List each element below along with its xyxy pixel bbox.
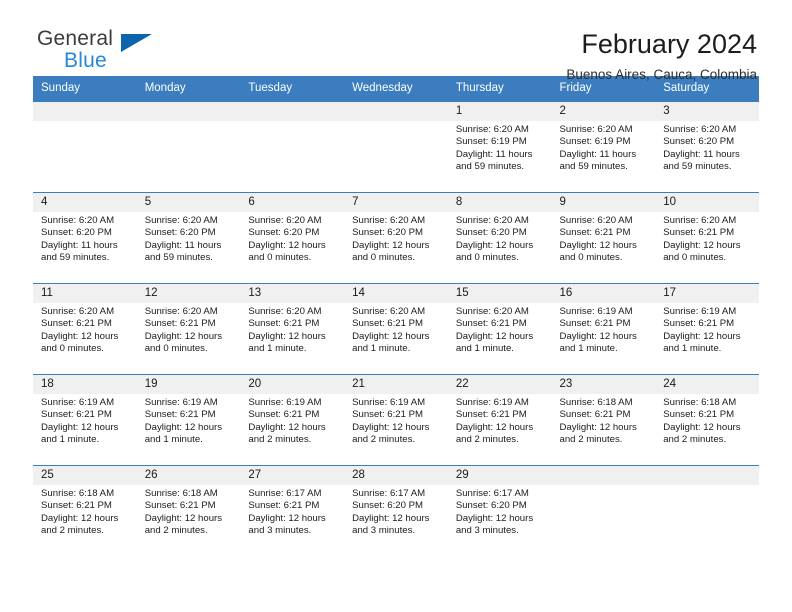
day-number: 17 (655, 284, 759, 303)
daylight-duration-line1: Daylight: 12 hours (663, 240, 753, 252)
daylight-duration-line1: Daylight: 12 hours (456, 422, 546, 434)
daylight-duration-line1: Daylight: 12 hours (352, 240, 442, 252)
daylight-duration-line2: and 0 minutes. (145, 343, 235, 355)
calendar-day-cell[interactable]: 22Sunrise: 6:19 AMSunset: 6:21 PMDayligh… (448, 375, 552, 466)
calendar-day-cell[interactable]: 27Sunrise: 6:17 AMSunset: 6:21 PMDayligh… (240, 466, 344, 557)
daylight-duration-line1: Daylight: 12 hours (663, 422, 753, 434)
day-cell-inner (33, 102, 137, 192)
day-details: Sunrise: 6:19 AMSunset: 6:21 PMDaylight:… (33, 394, 137, 447)
daylight-duration-line1: Daylight: 12 hours (456, 513, 546, 525)
calendar-week-row: 11Sunrise: 6:20 AMSunset: 6:21 PMDayligh… (33, 284, 759, 375)
page-header: General Blue February 2024 Buenos Aires,… (33, 0, 759, 72)
daylight-duration-line1: Daylight: 12 hours (248, 240, 338, 252)
calendar-day-cell-empty (137, 102, 241, 193)
daylight-duration-line2: and 0 minutes. (560, 252, 650, 264)
sunset-time: Sunset: 6:21 PM (456, 318, 546, 330)
sunrise-time: Sunrise: 6:19 AM (560, 306, 650, 318)
daylight-duration-line1: Daylight: 11 hours (456, 149, 546, 161)
day-details: Sunrise: 6:17 AMSunset: 6:21 PMDaylight:… (240, 485, 344, 538)
logo-text-blue: Blue (37, 50, 203, 72)
day-details: Sunrise: 6:19 AMSunset: 6:21 PMDaylight:… (448, 394, 552, 447)
calendar-day-cell[interactable]: 16Sunrise: 6:19 AMSunset: 6:21 PMDayligh… (552, 284, 656, 375)
sunset-time: Sunset: 6:20 PM (663, 136, 753, 148)
day-cell-inner: 9Sunrise: 6:20 AMSunset: 6:21 PMDaylight… (552, 193, 656, 283)
daylight-duration-line2: and 0 minutes. (248, 252, 338, 264)
daylight-duration-line1: Daylight: 12 hours (456, 331, 546, 343)
day-cell-inner: 10Sunrise: 6:20 AMSunset: 6:21 PMDayligh… (655, 193, 759, 283)
sunrise-time: Sunrise: 6:20 AM (248, 306, 338, 318)
day-number: 23 (552, 375, 656, 394)
sunset-time: Sunset: 6:20 PM (41, 227, 131, 239)
daylight-duration-line2: and 0 minutes. (352, 252, 442, 264)
day-details: Sunrise: 6:20 AMSunset: 6:21 PMDaylight:… (137, 303, 241, 356)
calendar-day-cell[interactable]: 26Sunrise: 6:18 AMSunset: 6:21 PMDayligh… (137, 466, 241, 557)
daylight-duration-line2: and 59 minutes. (41, 252, 131, 264)
title-block: February 2024 Buenos Aires, Cauca, Colom… (566, 28, 759, 85)
calendar-day-cell[interactable]: 10Sunrise: 6:20 AMSunset: 6:21 PMDayligh… (655, 193, 759, 284)
logo-triangle-icon (121, 34, 152, 52)
calendar-day-cell-empty (240, 102, 344, 193)
day-cell-inner: 4Sunrise: 6:20 AMSunset: 6:20 PMDaylight… (33, 193, 137, 283)
day-details: Sunrise: 6:17 AMSunset: 6:20 PMDaylight:… (448, 485, 552, 538)
sunset-time: Sunset: 6:21 PM (663, 409, 753, 421)
day-details: Sunrise: 6:18 AMSunset: 6:21 PMDaylight:… (655, 394, 759, 447)
daylight-duration-line1: Daylight: 12 hours (145, 331, 235, 343)
day-number (655, 466, 759, 485)
day-cell-inner: 15Sunrise: 6:20 AMSunset: 6:21 PMDayligh… (448, 284, 552, 374)
daylight-duration-line2: and 2 minutes. (352, 434, 442, 446)
sunrise-time: Sunrise: 6:19 AM (456, 397, 546, 409)
day-number: 25 (33, 466, 137, 485)
sunrise-time: Sunrise: 6:19 AM (663, 306, 753, 318)
calendar-week-row: 18Sunrise: 6:19 AMSunset: 6:21 PMDayligh… (33, 375, 759, 466)
day-cell-inner: 17Sunrise: 6:19 AMSunset: 6:21 PMDayligh… (655, 284, 759, 374)
day-cell-inner: 8Sunrise: 6:20 AMSunset: 6:20 PMDaylight… (448, 193, 552, 283)
day-cell-inner: 26Sunrise: 6:18 AMSunset: 6:21 PMDayligh… (137, 466, 241, 556)
day-number: 5 (137, 193, 241, 212)
daylight-duration-line1: Daylight: 12 hours (145, 422, 235, 434)
day-details: Sunrise: 6:19 AMSunset: 6:21 PMDaylight:… (240, 394, 344, 447)
day-number: 27 (240, 466, 344, 485)
daylight-duration-line1: Daylight: 12 hours (41, 422, 131, 434)
daylight-duration-line2: and 2 minutes. (248, 434, 338, 446)
daylight-duration-line1: Daylight: 12 hours (663, 331, 753, 343)
day-number: 6 (240, 193, 344, 212)
daylight-duration-line2: and 1 minute. (352, 343, 442, 355)
daylight-duration-line2: and 2 minutes. (456, 434, 546, 446)
day-details: Sunrise: 6:20 AMSunset: 6:21 PMDaylight:… (552, 212, 656, 265)
daylight-duration-line2: and 2 minutes. (560, 434, 650, 446)
calendar-day-cell[interactable]: 20Sunrise: 6:19 AMSunset: 6:21 PMDayligh… (240, 375, 344, 466)
day-number: 21 (344, 375, 448, 394)
daylight-duration-line2: and 0 minutes. (456, 252, 546, 264)
day-number (137, 102, 241, 121)
sunrise-time: Sunrise: 6:18 AM (145, 488, 235, 500)
day-number: 18 (33, 375, 137, 394)
calendar-day-cell[interactable]: 28Sunrise: 6:17 AMSunset: 6:20 PMDayligh… (344, 466, 448, 557)
sunrise-time: Sunrise: 6:20 AM (41, 306, 131, 318)
page-subtitle: Buenos Aires, Cauca, Colombia (566, 65, 757, 85)
daylight-duration-line2: and 0 minutes. (663, 252, 753, 264)
daylight-duration-line1: Daylight: 12 hours (248, 513, 338, 525)
calendar-page: General Blue February 2024 Buenos Aires,… (0, 0, 792, 612)
day-cell-inner: 14Sunrise: 6:20 AMSunset: 6:21 PMDayligh… (344, 284, 448, 374)
day-details: Sunrise: 6:20 AMSunset: 6:20 PMDaylight:… (240, 212, 344, 265)
calendar-day-cell-empty (344, 102, 448, 193)
sunset-time: Sunset: 6:21 PM (41, 318, 131, 330)
sunrise-time: Sunrise: 6:18 AM (41, 488, 131, 500)
calendar-day-cell[interactable]: 12Sunrise: 6:20 AMSunset: 6:21 PMDayligh… (137, 284, 241, 375)
daylight-duration-line1: Daylight: 12 hours (456, 240, 546, 252)
weekday-header-tuesday: Tuesday (240, 76, 344, 102)
calendar-day-cell[interactable]: 4Sunrise: 6:20 AMSunset: 6:20 PMDaylight… (33, 193, 137, 284)
day-cell-inner (344, 102, 448, 192)
daylight-duration-line1: Daylight: 12 hours (352, 331, 442, 343)
sunset-time: Sunset: 6:20 PM (456, 500, 546, 512)
daylight-duration-line1: Daylight: 12 hours (560, 331, 650, 343)
sunrise-time: Sunrise: 6:20 AM (456, 306, 546, 318)
sunrise-time: Sunrise: 6:20 AM (145, 215, 235, 227)
day-details: Sunrise: 6:20 AMSunset: 6:21 PMDaylight:… (240, 303, 344, 356)
sunset-time: Sunset: 6:21 PM (145, 318, 235, 330)
daylight-duration-line1: Daylight: 11 hours (560, 149, 650, 161)
sunset-time: Sunset: 6:21 PM (248, 318, 338, 330)
day-cell-inner: 19Sunrise: 6:19 AMSunset: 6:21 PMDayligh… (137, 375, 241, 465)
day-cell-inner: 11Sunrise: 6:20 AMSunset: 6:21 PMDayligh… (33, 284, 137, 374)
sunset-time: Sunset: 6:21 PM (352, 409, 442, 421)
day-details: Sunrise: 6:20 AMSunset: 6:21 PMDaylight:… (33, 303, 137, 356)
daylight-duration-line1: Daylight: 12 hours (41, 331, 131, 343)
daylight-duration-line1: Daylight: 12 hours (352, 513, 442, 525)
daylight-duration-line2: and 3 minutes. (248, 525, 338, 537)
calendar-day-cell[interactable]: 5Sunrise: 6:20 AMSunset: 6:20 PMDaylight… (137, 193, 241, 284)
sunset-time: Sunset: 6:21 PM (560, 227, 650, 239)
day-cell-inner: 2Sunrise: 6:20 AMSunset: 6:19 PMDaylight… (552, 102, 656, 192)
calendar-day-cell[interactable]: 3Sunrise: 6:20 AMSunset: 6:20 PMDaylight… (655, 102, 759, 193)
sunrise-time: Sunrise: 6:18 AM (560, 397, 650, 409)
sunrise-time: Sunrise: 6:17 AM (456, 488, 546, 500)
day-details: Sunrise: 6:18 AMSunset: 6:21 PMDaylight:… (552, 394, 656, 447)
calendar-day-cell[interactable]: 8Sunrise: 6:20 AMSunset: 6:20 PMDaylight… (448, 193, 552, 284)
sunrise-time: Sunrise: 6:20 AM (145, 306, 235, 318)
day-number: 10 (655, 193, 759, 212)
calendar-day-cell[interactable]: 14Sunrise: 6:20 AMSunset: 6:21 PMDayligh… (344, 284, 448, 375)
daylight-duration-line2: and 3 minutes. (352, 525, 442, 537)
calendar-day-cell[interactable]: 19Sunrise: 6:19 AMSunset: 6:21 PMDayligh… (137, 375, 241, 466)
day-number: 24 (655, 375, 759, 394)
day-number: 11 (33, 284, 137, 303)
day-details: Sunrise: 6:20 AMSunset: 6:21 PMDaylight:… (344, 303, 448, 356)
daylight-duration-line1: Daylight: 11 hours (663, 149, 753, 161)
sunrise-time: Sunrise: 6:20 AM (663, 124, 753, 136)
day-number: 22 (448, 375, 552, 394)
daylight-duration-line2: and 3 minutes. (456, 525, 546, 537)
day-details: Sunrise: 6:19 AMSunset: 6:21 PMDaylight:… (344, 394, 448, 447)
sunrise-time: Sunrise: 6:20 AM (560, 215, 650, 227)
day-number: 16 (552, 284, 656, 303)
daylight-duration-line2: and 1 minute. (41, 434, 131, 446)
day-details: Sunrise: 6:20 AMSunset: 6:20 PMDaylight:… (448, 212, 552, 265)
day-cell-inner: 21Sunrise: 6:19 AMSunset: 6:21 PMDayligh… (344, 375, 448, 465)
day-number: 19 (137, 375, 241, 394)
daylight-duration-line2: and 59 minutes. (663, 161, 753, 173)
day-cell-inner: 22Sunrise: 6:19 AMSunset: 6:21 PMDayligh… (448, 375, 552, 465)
sunset-time: Sunset: 6:20 PM (456, 227, 546, 239)
day-cell-inner: 6Sunrise: 6:20 AMSunset: 6:20 PMDaylight… (240, 193, 344, 283)
calendar-table: Sunday Monday Tuesday Wednesday Thursday… (33, 76, 759, 556)
day-number: 3 (655, 102, 759, 121)
day-number: 2 (552, 102, 656, 121)
day-number: 12 (137, 284, 241, 303)
sunset-time: Sunset: 6:21 PM (456, 409, 546, 421)
day-cell-inner: 29Sunrise: 6:17 AMSunset: 6:20 PMDayligh… (448, 466, 552, 556)
calendar-day-cell[interactable]: 11Sunrise: 6:20 AMSunset: 6:21 PMDayligh… (33, 284, 137, 375)
daylight-duration-line1: Daylight: 12 hours (248, 422, 338, 434)
day-details: Sunrise: 6:20 AMSunset: 6:19 PMDaylight:… (552, 121, 656, 174)
general-blue-logo: General Blue (33, 28, 203, 84)
day-number: 28 (344, 466, 448, 485)
sunrise-time: Sunrise: 6:20 AM (456, 124, 546, 136)
day-number: 26 (137, 466, 241, 485)
day-number: 8 (448, 193, 552, 212)
daylight-duration-line2: and 59 minutes. (560, 161, 650, 173)
day-cell-inner: 24Sunrise: 6:18 AMSunset: 6:21 PMDayligh… (655, 375, 759, 465)
day-cell-inner: 12Sunrise: 6:20 AMSunset: 6:21 PMDayligh… (137, 284, 241, 374)
day-cell-inner: 5Sunrise: 6:20 AMSunset: 6:20 PMDaylight… (137, 193, 241, 283)
sunset-time: Sunset: 6:21 PM (352, 318, 442, 330)
daylight-duration-line1: Daylight: 12 hours (560, 422, 650, 434)
day-details: Sunrise: 6:20 AMSunset: 6:20 PMDaylight:… (33, 212, 137, 265)
calendar-day-cell[interactable]: 9Sunrise: 6:20 AMSunset: 6:21 PMDaylight… (552, 193, 656, 284)
daylight-duration-line1: Daylight: 12 hours (41, 513, 131, 525)
calendar-day-cell[interactable]: 2Sunrise: 6:20 AMSunset: 6:19 PMDaylight… (552, 102, 656, 193)
day-cell-inner: 3Sunrise: 6:20 AMSunset: 6:20 PMDaylight… (655, 102, 759, 192)
calendar-day-cell-empty (655, 466, 759, 557)
daylight-duration-line1: Daylight: 11 hours (41, 240, 131, 252)
day-number: 20 (240, 375, 344, 394)
day-number (240, 102, 344, 121)
sunrise-time: Sunrise: 6:17 AM (248, 488, 338, 500)
day-cell-inner: 13Sunrise: 6:20 AMSunset: 6:21 PMDayligh… (240, 284, 344, 374)
sunrise-time: Sunrise: 6:19 AM (145, 397, 235, 409)
sunrise-time: Sunrise: 6:20 AM (248, 215, 338, 227)
sunset-time: Sunset: 6:21 PM (145, 500, 235, 512)
day-details: Sunrise: 6:17 AMSunset: 6:20 PMDaylight:… (344, 485, 448, 538)
calendar-day-cell[interactable]: 29Sunrise: 6:17 AMSunset: 6:20 PMDayligh… (448, 466, 552, 557)
daylight-duration-line1: Daylight: 12 hours (560, 240, 650, 252)
day-cell-inner (137, 102, 241, 192)
day-number (552, 466, 656, 485)
day-details: Sunrise: 6:18 AMSunset: 6:21 PMDaylight:… (137, 485, 241, 538)
day-details: Sunrise: 6:20 AMSunset: 6:20 PMDaylight:… (344, 212, 448, 265)
calendar-day-cell-empty (552, 466, 656, 557)
calendar-day-cell[interactable]: 18Sunrise: 6:19 AMSunset: 6:21 PMDayligh… (33, 375, 137, 466)
sunset-time: Sunset: 6:19 PM (560, 136, 650, 148)
day-details: Sunrise: 6:19 AMSunset: 6:21 PMDaylight:… (552, 303, 656, 356)
day-number (33, 102, 137, 121)
calendar-week-row: 1Sunrise: 6:20 AMSunset: 6:19 PMDaylight… (33, 102, 759, 193)
day-number: 7 (344, 193, 448, 212)
sunrise-time: Sunrise: 6:19 AM (41, 397, 131, 409)
day-number: 15 (448, 284, 552, 303)
daylight-duration-line2: and 2 minutes. (41, 525, 131, 537)
calendar-day-cell[interactable]: 23Sunrise: 6:18 AMSunset: 6:21 PMDayligh… (552, 375, 656, 466)
daylight-duration-line2: and 1 minute. (560, 343, 650, 355)
daylight-duration-line1: Daylight: 12 hours (352, 422, 442, 434)
sunset-time: Sunset: 6:21 PM (663, 227, 753, 239)
calendar-day-cell[interactable]: 6Sunrise: 6:20 AMSunset: 6:20 PMDaylight… (240, 193, 344, 284)
day-cell-inner: 27Sunrise: 6:17 AMSunset: 6:21 PMDayligh… (240, 466, 344, 556)
calendar-day-cell[interactable]: 13Sunrise: 6:20 AMSunset: 6:21 PMDayligh… (240, 284, 344, 375)
sunset-time: Sunset: 6:21 PM (41, 409, 131, 421)
calendar-day-cell[interactable]: 17Sunrise: 6:19 AMSunset: 6:21 PMDayligh… (655, 284, 759, 375)
calendar-day-cell[interactable]: 7Sunrise: 6:20 AMSunset: 6:20 PMDaylight… (344, 193, 448, 284)
sunset-time: Sunset: 6:21 PM (560, 318, 650, 330)
calendar-day-cell[interactable]: 1Sunrise: 6:20 AMSunset: 6:19 PMDaylight… (448, 102, 552, 193)
daylight-duration-line2: and 1 minute. (663, 343, 753, 355)
sunrise-time: Sunrise: 6:17 AM (352, 488, 442, 500)
day-cell-inner: 1Sunrise: 6:20 AMSunset: 6:19 PMDaylight… (448, 102, 552, 192)
day-cell-inner: 23Sunrise: 6:18 AMSunset: 6:21 PMDayligh… (552, 375, 656, 465)
day-details: Sunrise: 6:20 AMSunset: 6:20 PMDaylight:… (137, 212, 241, 265)
calendar-week-row: 25Sunrise: 6:18 AMSunset: 6:21 PMDayligh… (33, 466, 759, 557)
sunset-time: Sunset: 6:20 PM (248, 227, 338, 239)
daylight-duration-line2: and 59 minutes. (145, 252, 235, 264)
day-details: Sunrise: 6:19 AMSunset: 6:21 PMDaylight:… (137, 394, 241, 447)
sunset-time: Sunset: 6:20 PM (352, 500, 442, 512)
daylight-duration-line2: and 2 minutes. (145, 525, 235, 537)
day-number: 9 (552, 193, 656, 212)
day-number: 13 (240, 284, 344, 303)
day-details: Sunrise: 6:20 AMSunset: 6:20 PMDaylight:… (655, 121, 759, 174)
sunrise-time: Sunrise: 6:19 AM (248, 397, 338, 409)
sunrise-time: Sunrise: 6:20 AM (41, 215, 131, 227)
logo-text-general: General (37, 28, 203, 50)
sunrise-time: Sunrise: 6:19 AM (352, 397, 442, 409)
sunset-time: Sunset: 6:21 PM (145, 409, 235, 421)
calendar-day-cell[interactable]: 24Sunrise: 6:18 AMSunset: 6:21 PMDayligh… (655, 375, 759, 466)
daylight-duration-line2: and 1 minute. (456, 343, 546, 355)
sunrise-time: Sunrise: 6:20 AM (456, 215, 546, 227)
day-cell-inner: 20Sunrise: 6:19 AMSunset: 6:21 PMDayligh… (240, 375, 344, 465)
sunset-time: Sunset: 6:21 PM (663, 318, 753, 330)
sunrise-time: Sunrise: 6:18 AM (663, 397, 753, 409)
sunrise-time: Sunrise: 6:20 AM (352, 215, 442, 227)
page-title: February 2024 (566, 28, 757, 60)
daylight-duration-line2: and 0 minutes. (41, 343, 131, 355)
day-cell-inner: 16Sunrise: 6:19 AMSunset: 6:21 PMDayligh… (552, 284, 656, 374)
daylight-duration-line2: and 1 minute. (248, 343, 338, 355)
calendar-body: 1Sunrise: 6:20 AMSunset: 6:19 PMDaylight… (33, 102, 759, 557)
sunset-time: Sunset: 6:21 PM (41, 500, 131, 512)
day-details: Sunrise: 6:20 AMSunset: 6:21 PMDaylight:… (448, 303, 552, 356)
daylight-duration-line1: Daylight: 12 hours (248, 331, 338, 343)
day-number: 29 (448, 466, 552, 485)
daylight-duration-line2: and 59 minutes. (456, 161, 546, 173)
sunset-time: Sunset: 6:20 PM (352, 227, 442, 239)
day-number: 4 (33, 193, 137, 212)
calendar-day-cell[interactable]: 25Sunrise: 6:18 AMSunset: 6:21 PMDayligh… (33, 466, 137, 557)
calendar-day-cell[interactable]: 21Sunrise: 6:19 AMSunset: 6:21 PMDayligh… (344, 375, 448, 466)
day-cell-inner: 28Sunrise: 6:17 AMSunset: 6:20 PMDayligh… (344, 466, 448, 556)
sunrise-time: Sunrise: 6:20 AM (560, 124, 650, 136)
day-details: Sunrise: 6:20 AMSunset: 6:21 PMDaylight:… (655, 212, 759, 265)
calendar-week-row: 4Sunrise: 6:20 AMSunset: 6:20 PMDaylight… (33, 193, 759, 284)
sunrise-time: Sunrise: 6:20 AM (663, 215, 753, 227)
daylight-duration-line2: and 1 minute. (145, 434, 235, 446)
calendar-day-cell-empty (33, 102, 137, 193)
calendar-day-cell[interactable]: 15Sunrise: 6:20 AMSunset: 6:21 PMDayligh… (448, 284, 552, 375)
daylight-duration-line1: Daylight: 12 hours (145, 513, 235, 525)
sunset-time: Sunset: 6:21 PM (248, 409, 338, 421)
day-details: Sunrise: 6:20 AMSunset: 6:19 PMDaylight:… (448, 121, 552, 174)
daylight-duration-line1: Daylight: 11 hours (145, 240, 235, 252)
sunset-time: Sunset: 6:21 PM (560, 409, 650, 421)
day-cell-inner: 18Sunrise: 6:19 AMSunset: 6:21 PMDayligh… (33, 375, 137, 465)
day-cell-inner (655, 466, 759, 556)
day-number: 1 (448, 102, 552, 121)
day-cell-inner (552, 466, 656, 556)
weekday-header-wednesday: Wednesday (344, 76, 448, 102)
weekday-header-thursday: Thursday (448, 76, 552, 102)
day-number (344, 102, 448, 121)
sunrise-time: Sunrise: 6:20 AM (352, 306, 442, 318)
day-cell-inner: 25Sunrise: 6:18 AMSunset: 6:21 PMDayligh… (33, 466, 137, 556)
day-details: Sunrise: 6:18 AMSunset: 6:21 PMDaylight:… (33, 485, 137, 538)
sunset-time: Sunset: 6:19 PM (456, 136, 546, 148)
daylight-duration-line2: and 2 minutes. (663, 434, 753, 446)
day-cell-inner: 7Sunrise: 6:20 AMSunset: 6:20 PMDaylight… (344, 193, 448, 283)
day-number: 14 (344, 284, 448, 303)
day-cell-inner (240, 102, 344, 192)
sunset-time: Sunset: 6:20 PM (145, 227, 235, 239)
sunset-time: Sunset: 6:21 PM (248, 500, 338, 512)
day-details: Sunrise: 6:19 AMSunset: 6:21 PMDaylight:… (655, 303, 759, 356)
